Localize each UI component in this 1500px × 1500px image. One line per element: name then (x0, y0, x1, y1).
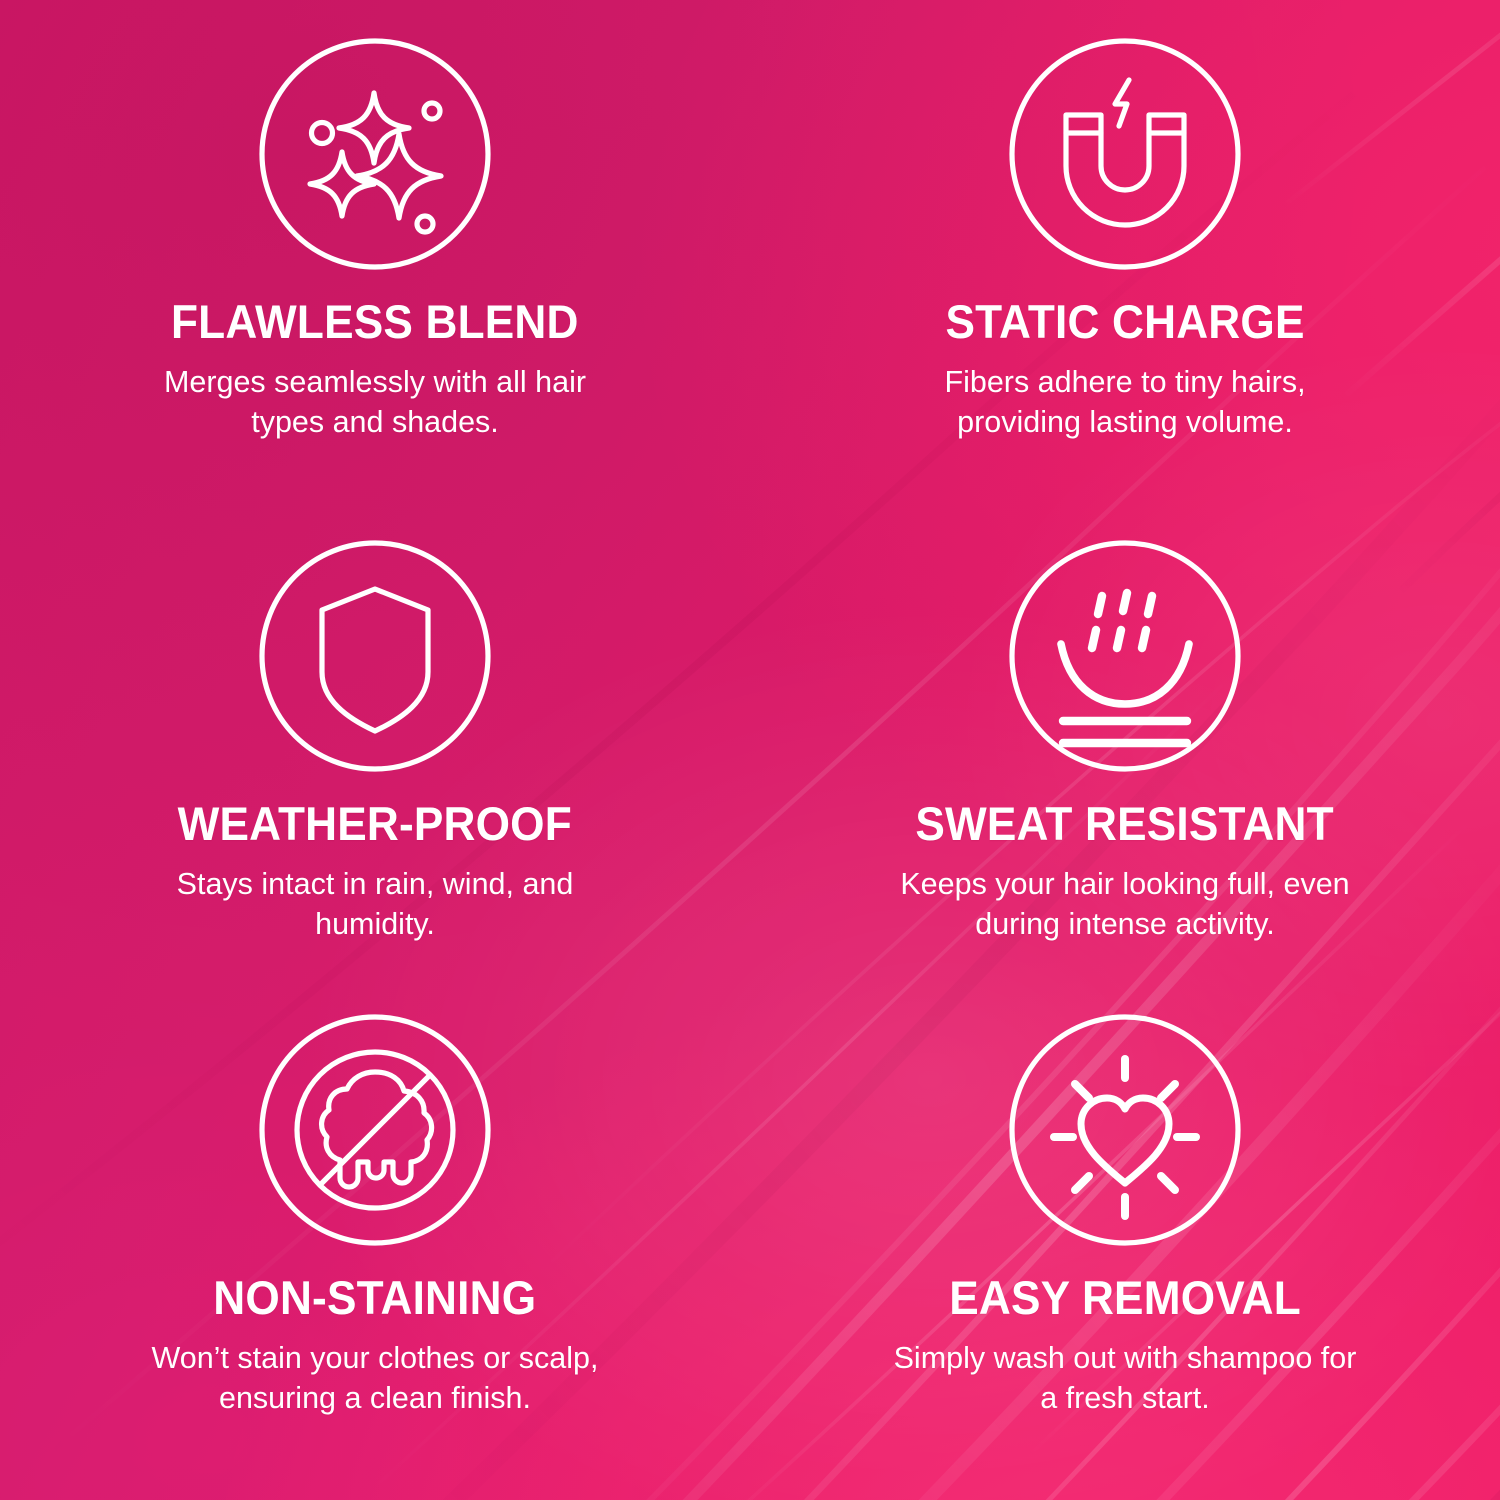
shield-icon (257, 538, 493, 774)
feature-card-flawless-blend: FLAWLESS BLEND Merges seamlessly with al… (0, 36, 750, 536)
feature-card-non-staining: NON-STAINING Won’t stain your clothes or… (0, 1006, 750, 1500)
no-stain-icon (257, 1012, 493, 1248)
feature-title: NON-STAINING (214, 1274, 537, 1322)
feature-title: WEATHER-PROOF (178, 800, 572, 848)
water-repel-icon (1007, 538, 1243, 774)
feature-description: Keeps your hair looking full, even durin… (890, 865, 1360, 944)
feature-title: FLAWLESS BLEND (171, 298, 579, 346)
feature-card-easy-removal: EASY REMOVAL Simply wash out with shampo… (750, 1006, 1500, 1500)
feature-description: Fibers adhere to tiny hairs, providing l… (890, 363, 1360, 442)
feature-description: Stays intact in rain, wind, and humidity… (140, 865, 610, 944)
feature-description: Simply wash out with shampoo for a fresh… (890, 1339, 1360, 1418)
sparkles-icon (257, 36, 493, 272)
feature-description: Merges seamlessly with all hair types an… (140, 363, 610, 442)
heart-shine-icon (1007, 1012, 1243, 1248)
feature-card-static-charge: STATIC CHARGE Fibers adhere to tiny hair… (750, 36, 1500, 536)
feature-title: STATIC CHARGE (945, 298, 1304, 346)
feature-card-sweat-resistant: SWEAT RESISTANT Keeps your hair looking … (750, 536, 1500, 1006)
feature-title: SWEAT RESISTANT (916, 800, 1334, 848)
magnet-lightning-icon (1007, 36, 1243, 272)
feature-description: Won’t stain your clothes or scalp, ensur… (140, 1339, 610, 1418)
features-grid: FLAWLESS BLEND Merges seamlessly with al… (0, 0, 1500, 1500)
feature-title: EASY REMOVAL (949, 1274, 1301, 1322)
feature-card-weather-proof: WEATHER-PROOF Stays intact in rain, wind… (0, 536, 750, 1006)
feature-grid-poster: FLAWLESS BLEND Merges seamlessly with al… (0, 0, 1500, 1500)
